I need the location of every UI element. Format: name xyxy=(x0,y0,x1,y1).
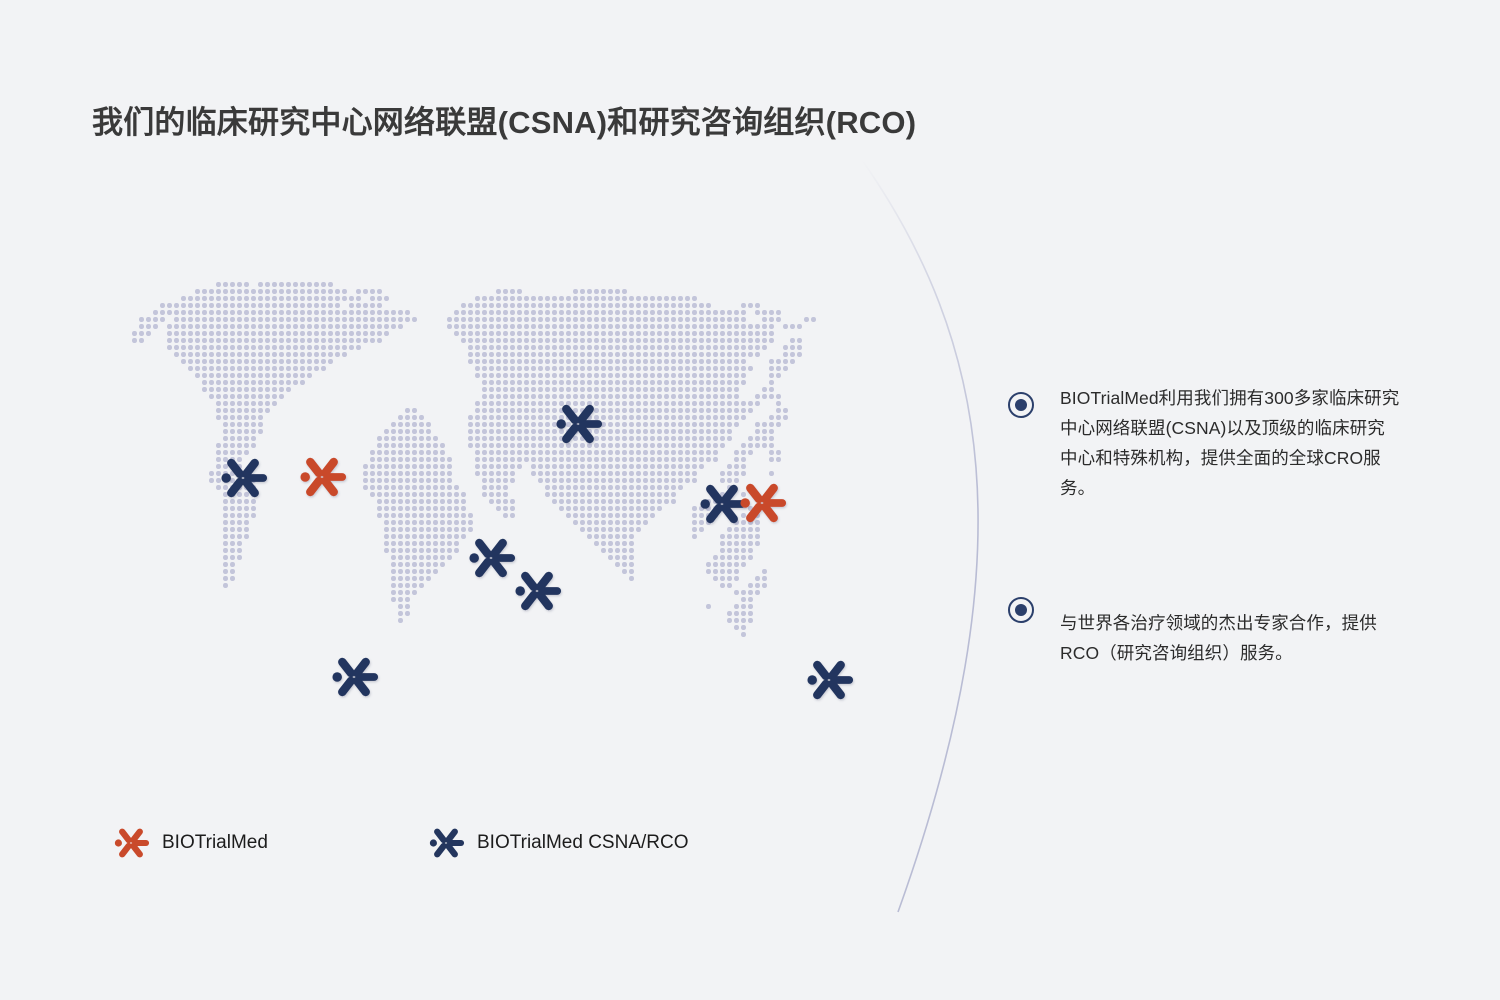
bullet-marker-2 xyxy=(1008,597,1034,623)
marker-asia-east-hq xyxy=(740,488,782,518)
page-title: 我们的临床研究中心网络联盟(CSNA)和研究咨询组织(RCO) xyxy=(92,97,1192,142)
arc-path xyxy=(862,160,978,912)
map-dot-layer xyxy=(132,282,816,637)
marker-europe-south xyxy=(515,576,557,606)
legend-label-csna-rco: BIOTrialMed CSNA/RCO xyxy=(477,832,689,854)
bullet-marker-1 xyxy=(1008,392,1034,418)
info-text-csna: BIOTrialMed利用我们拥有300多家临床研究中心网络联盟(CSNA)以及… xyxy=(1060,383,1400,503)
marker-europe-west xyxy=(469,543,511,573)
legend-label-biotrialmed: BIOTrialMed xyxy=(162,832,268,854)
infographic-canvas: 我们的临床研究中心网络联盟(CSNA)和研究咨询组织(RCO) xyxy=(0,0,1500,1000)
decorative-arc xyxy=(820,150,1060,930)
info-text-rco: 与世界各治疗领域的杰出专家合作，提供RCO（研究咨询组织）服务。 xyxy=(1060,608,1400,668)
legend-item-biotrialmed: BIOTrialMed xyxy=(110,822,268,864)
legend-item-csna-rco: BIOTrialMed CSNA/RCO xyxy=(425,822,689,864)
marker-north-america-east xyxy=(300,462,342,492)
biotrialmed-asterisk-icon xyxy=(425,822,467,864)
marker-south-america xyxy=(332,662,374,692)
biotrialmed-asterisk-icon xyxy=(110,822,152,864)
